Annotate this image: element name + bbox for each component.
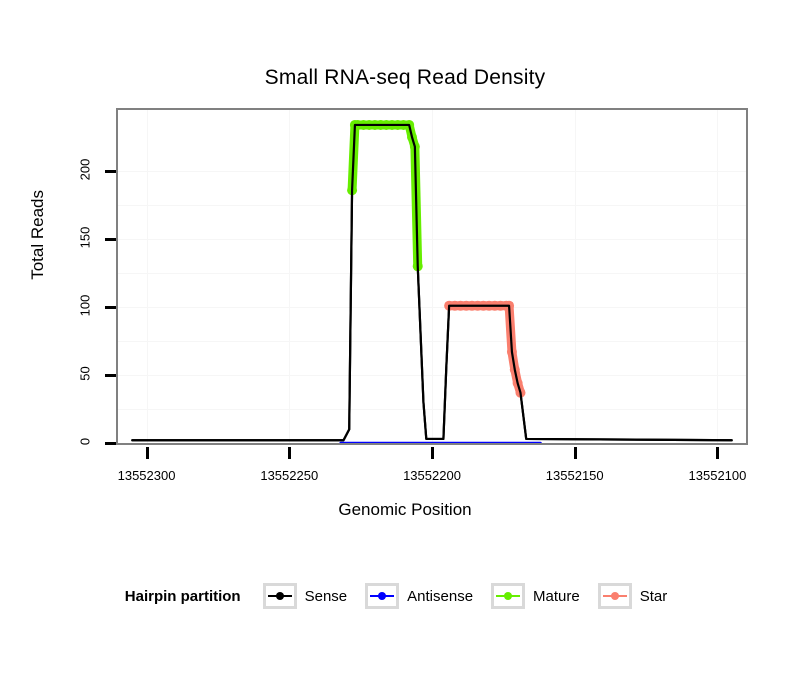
legend-label: Antisense (407, 588, 473, 605)
series-band-mature (352, 125, 418, 266)
x-axis-title: Genomic Position (0, 500, 810, 520)
x-tick-mark (146, 447, 149, 459)
legend-label: Sense (305, 588, 348, 605)
series-line-sense-overlay (132, 125, 731, 440)
y-tick-label: 150 (70, 230, 100, 245)
y-tick-label: 100 (70, 298, 100, 313)
legend-key-star (598, 583, 632, 609)
y-tick-mark (105, 442, 116, 445)
y-tick-label: 200 (70, 162, 100, 177)
x-tick-mark (574, 447, 577, 459)
legend-point-swatch (276, 592, 284, 600)
series-sense (132, 125, 731, 440)
y-tick-mark (105, 306, 116, 309)
legend-items: SenseAntisenseMatureStar (263, 583, 686, 609)
series-mature (347, 120, 423, 271)
x-tick-label: 13552200 (403, 468, 461, 483)
y-tick-label: 0 (70, 434, 100, 449)
legend-label: Star (640, 588, 668, 605)
x-tick-label: 13552300 (118, 468, 176, 483)
legend-item-sense[interactable]: Sense (263, 583, 348, 609)
x-tick-label: 13552250 (260, 468, 318, 483)
legend-key-antisense (365, 583, 399, 609)
legend-item-star[interactable]: Star (598, 583, 668, 609)
legend-key-sense (263, 583, 297, 609)
x-tick-label: 13552100 (689, 468, 747, 483)
chart-page: Small RNA-seq Read Density Total Reads 0… (0, 0, 810, 690)
plot-area (116, 108, 748, 445)
series-line-sense (132, 125, 731, 440)
plot-svg (118, 110, 746, 443)
legend-point-swatch (378, 592, 386, 600)
legend-title: Hairpin partition (125, 588, 241, 605)
legend-point-swatch (611, 592, 619, 600)
y-tick-mark (105, 374, 116, 377)
legend-key-mature (491, 583, 525, 609)
y-tick-mark (105, 170, 116, 173)
legend-item-mature[interactable]: Mature (491, 583, 580, 609)
gridline-horizontal (118, 443, 746, 444)
x-tick-mark (431, 447, 434, 459)
series-star (444, 301, 525, 398)
y-tick-label: 50 (70, 366, 100, 381)
y-tick-mark (105, 238, 116, 241)
legend-label: Mature (533, 588, 580, 605)
legend-item-antisense[interactable]: Antisense (365, 583, 473, 609)
x-tick-label: 13552150 (546, 468, 604, 483)
y-axis-title: Total Reads (28, 190, 48, 280)
x-tick-mark (716, 447, 719, 459)
legend: Hairpin partition SenseAntisenseMatureSt… (0, 583, 810, 609)
x-tick-mark (288, 447, 291, 459)
chart-title: Small RNA-seq Read Density (0, 66, 810, 90)
legend-point-swatch (504, 592, 512, 600)
